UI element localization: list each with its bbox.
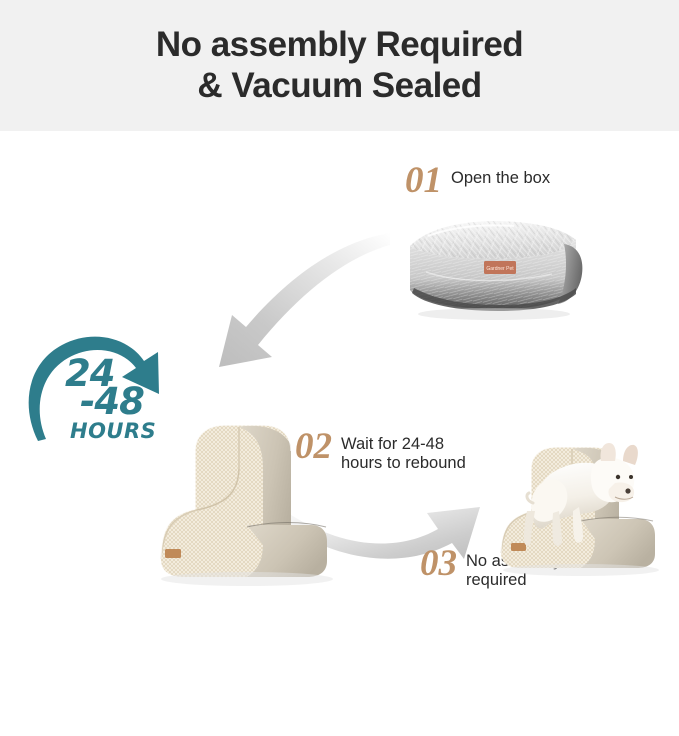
page-title-line-2: & Vacuum Sealed bbox=[156, 66, 523, 106]
stairs2-brand-tag bbox=[511, 543, 526, 551]
arrow-box-to-stairs bbox=[172, 231, 392, 376]
vacuum-sealed-package: Gardner Pet bbox=[396, 214, 586, 324]
infographic-stage: 24 -48 HOURS 01 Open the box bbox=[0, 131, 679, 608]
pet-stairs-with-french-bulldog bbox=[497, 411, 672, 581]
stairs-brand-tag bbox=[165, 549, 181, 558]
step-01-number: 01 bbox=[405, 163, 442, 198]
step-03-number: 03 bbox=[420, 546, 457, 581]
page-title: No assembly Required & Vacuum Sealed bbox=[156, 25, 523, 106]
page-title-line-1: No assembly Required bbox=[156, 25, 523, 64]
rebound-time-badge: 24 -48 HOURS bbox=[18, 333, 178, 463]
badge-line-2: -48 bbox=[80, 383, 144, 420]
badge-line-3: HOURS bbox=[70, 421, 156, 442]
step-01-text: Open the box bbox=[451, 163, 550, 188]
pet-stairs-three-step bbox=[155, 409, 345, 589]
step-01: 01 Open the box bbox=[405, 163, 550, 198]
step-02-text: Wait for 24-48 hours to rebound bbox=[341, 429, 466, 474]
package-brand-label-text: Gardner Pet bbox=[486, 266, 514, 272]
watermark bbox=[322, 728, 362, 736]
header-banner: No assembly Required & Vacuum Sealed bbox=[0, 0, 679, 131]
